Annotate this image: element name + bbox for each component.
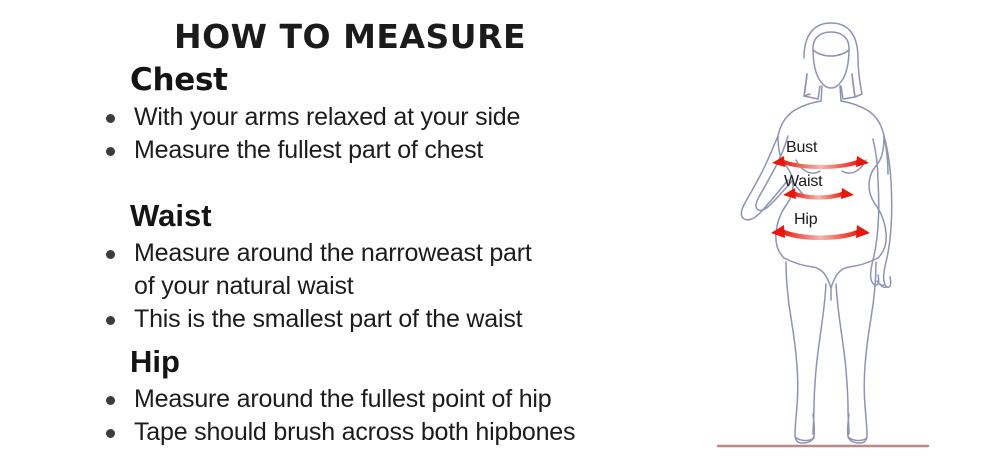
bullet-list-chest: With your arms relaxed at your side Meas… bbox=[0, 101, 700, 167]
bullet-dot-icon bbox=[106, 429, 115, 438]
section-heading-waist: Waist bbox=[130, 198, 700, 235]
list-item: Measure around the narroweast part of yo… bbox=[0, 237, 700, 303]
section-hip: Hip Measure around the fullest point of … bbox=[0, 344, 700, 449]
section-heading-hip: Hip bbox=[130, 344, 700, 381]
hip-arrow-icon bbox=[771, 225, 870, 238]
bullet-dot-icon bbox=[106, 396, 115, 405]
section-chest: Chest With your arms relaxed at your sid… bbox=[0, 62, 700, 167]
bullet-dot-icon bbox=[106, 147, 115, 156]
list-item: Measure around the fullest point of hip bbox=[0, 383, 700, 416]
how-to-measure-infographic: HOW TO MEASURE Chest With your arms rela… bbox=[0, 0, 1000, 474]
list-item-line: This is the smallest part of the waist bbox=[134, 303, 700, 336]
list-item: Measure the fullest part of chest bbox=[0, 134, 700, 167]
measurement-label-bust: Bust bbox=[786, 139, 817, 157]
page-title: HOW TO MEASURE bbox=[0, 20, 700, 53]
measurement-arrows bbox=[771, 156, 870, 238]
list-item-line: With your arms relaxed at your side bbox=[134, 101, 700, 134]
measurement-label-waist: Waist bbox=[784, 173, 822, 191]
female-body-outline-icon bbox=[700, 0, 1000, 474]
list-item-line: Measure the fullest part of chest bbox=[134, 134, 700, 167]
list-item-line: Measure around the narroweast part bbox=[134, 237, 700, 270]
bullet-dot-icon bbox=[106, 114, 115, 123]
instructions-column: Chest With your arms relaxed at your sid… bbox=[0, 62, 700, 474]
body-diagram: Bust Waist Hip bbox=[700, 0, 1000, 474]
section-waist: Waist Measure around the narroweast part… bbox=[0, 198, 700, 336]
list-item-line: Measure around the fullest point of hip bbox=[134, 383, 700, 416]
list-item-line: of your natural waist bbox=[134, 270, 700, 303]
bullet-dot-icon bbox=[106, 316, 115, 325]
list-item: With your arms relaxed at your side bbox=[0, 101, 700, 134]
list-item: Tape should brush across both hipbones bbox=[0, 416, 700, 449]
bullet-list-waist: Measure around the narroweast part of yo… bbox=[0, 237, 700, 336]
measurement-label-hip: Hip bbox=[794, 211, 817, 229]
section-heading-chest: Chest bbox=[130, 62, 700, 99]
bullet-dot-icon bbox=[106, 250, 115, 259]
list-item-line: Tape should brush across both hipbones bbox=[134, 416, 700, 449]
bullet-list-hip: Measure around the fullest point of hip … bbox=[0, 383, 700, 449]
list-item: This is the smallest part of the waist bbox=[0, 303, 700, 336]
